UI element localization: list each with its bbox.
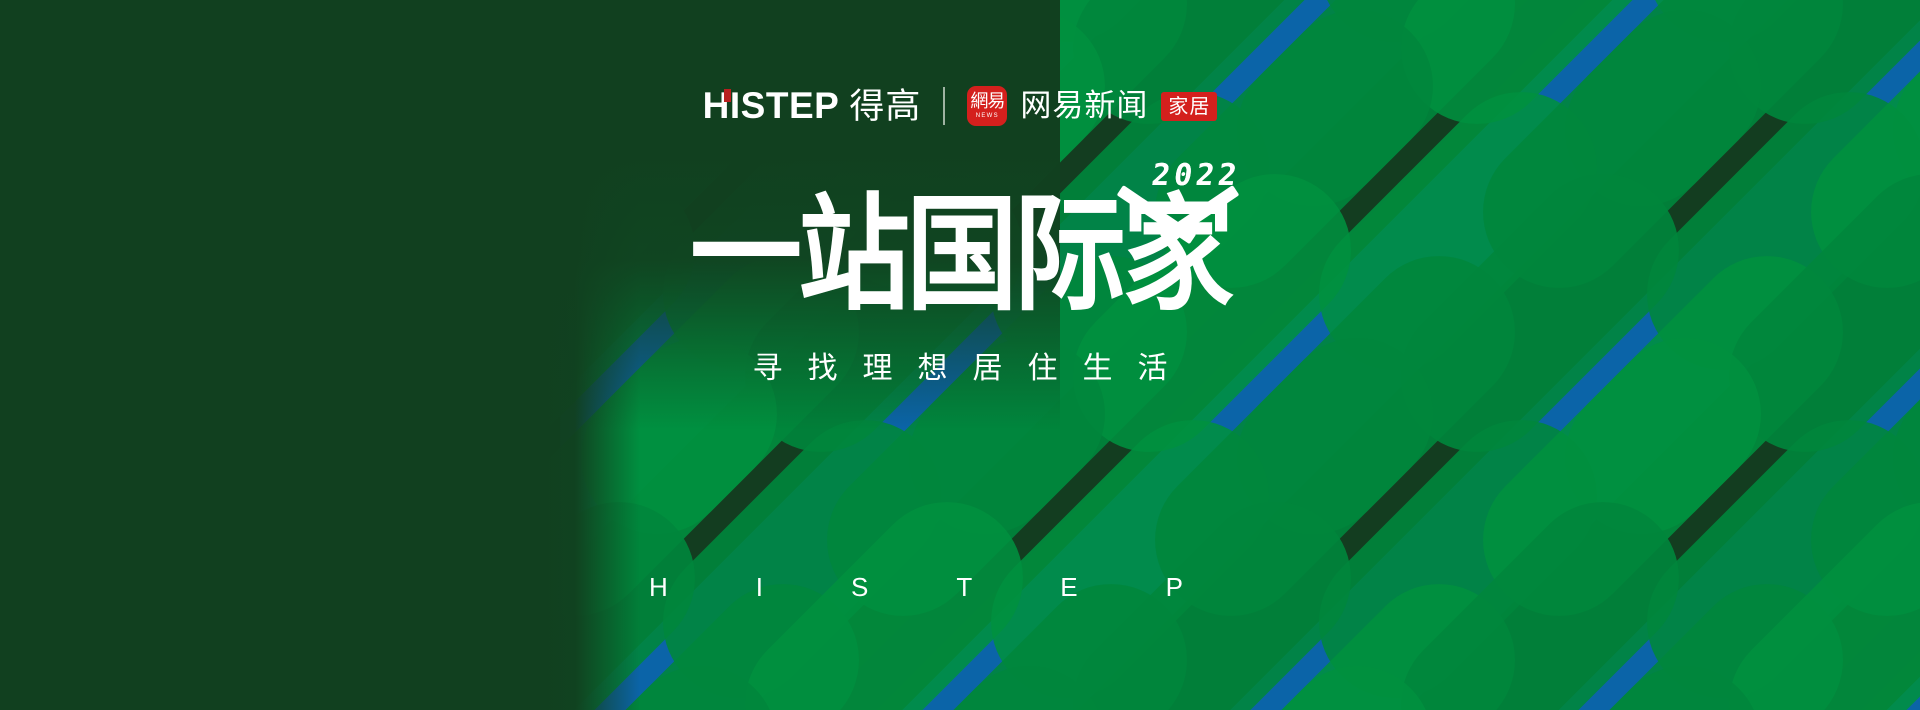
pattern-capsule	[1042, 0, 1383, 155]
pattern-capsule	[1452, 635, 1793, 710]
bottom-wordmark: HISTEP	[0, 572, 1920, 603]
pattern-capsule	[632, 0, 973, 73]
netease-badge: 網易 NEWS	[967, 86, 1007, 126]
title-block: 2022 一站国际家 寻找理想居住生活	[0, 188, 1920, 387]
page-subtitle: 寻找理想居住生活	[728, 343, 1193, 387]
pattern-capsule	[1288, 389, 1629, 710]
pattern-capsule	[386, 0, 727, 155]
pattern-capsule	[960, 0, 1301, 73]
pattern-capsule	[1370, 0, 1711, 155]
bottom-wordmark-text: HISTEP	[649, 572, 1271, 602]
pattern-capsule	[1780, 635, 1920, 710]
netease-news-label: 网易新闻	[1020, 91, 1148, 122]
house-roof-icon	[1112, 170, 1244, 244]
pattern-capsule	[1616, 0, 1920, 73]
pattern-capsule	[960, 389, 1301, 710]
brand-row: HISTEP 得高 網易 NEWS 网易新闻 家居	[0, 86, 1920, 126]
title-wrap: 2022 一站国际家	[690, 188, 1230, 309]
pattern-capsule	[796, 635, 1137, 710]
histep-wordmark: HISTEP	[703, 87, 840, 124]
pattern-capsule	[632, 389, 973, 710]
netease-logo[interactable]: 網易 NEWS 网易新闻 家居	[967, 86, 1217, 126]
netease-home-tag: 家居	[1161, 92, 1217, 121]
netease-badge-chinese: 網易	[970, 93, 1004, 111]
pattern-capsule	[1288, 0, 1629, 73]
pattern-capsule	[468, 635, 809, 710]
histep-logo[interactable]: HISTEP 得高	[703, 87, 922, 125]
pattern-capsule	[1698, 0, 1920, 155]
pattern-capsule	[1124, 635, 1465, 710]
pattern-capsule	[714, 0, 1055, 155]
promo-banner: HISTEP 得高 網易 NEWS 网易新闻 家居 2022 一站国际家 寻找理…	[0, 0, 1920, 710]
pattern-capsule	[1616, 389, 1920, 710]
vertical-divider-icon	[943, 87, 945, 125]
histep-accent-tick-icon	[724, 89, 731, 102]
histep-chinese-name: 得高	[849, 90, 921, 125]
netease-badge-english: NEWS	[976, 113, 999, 119]
